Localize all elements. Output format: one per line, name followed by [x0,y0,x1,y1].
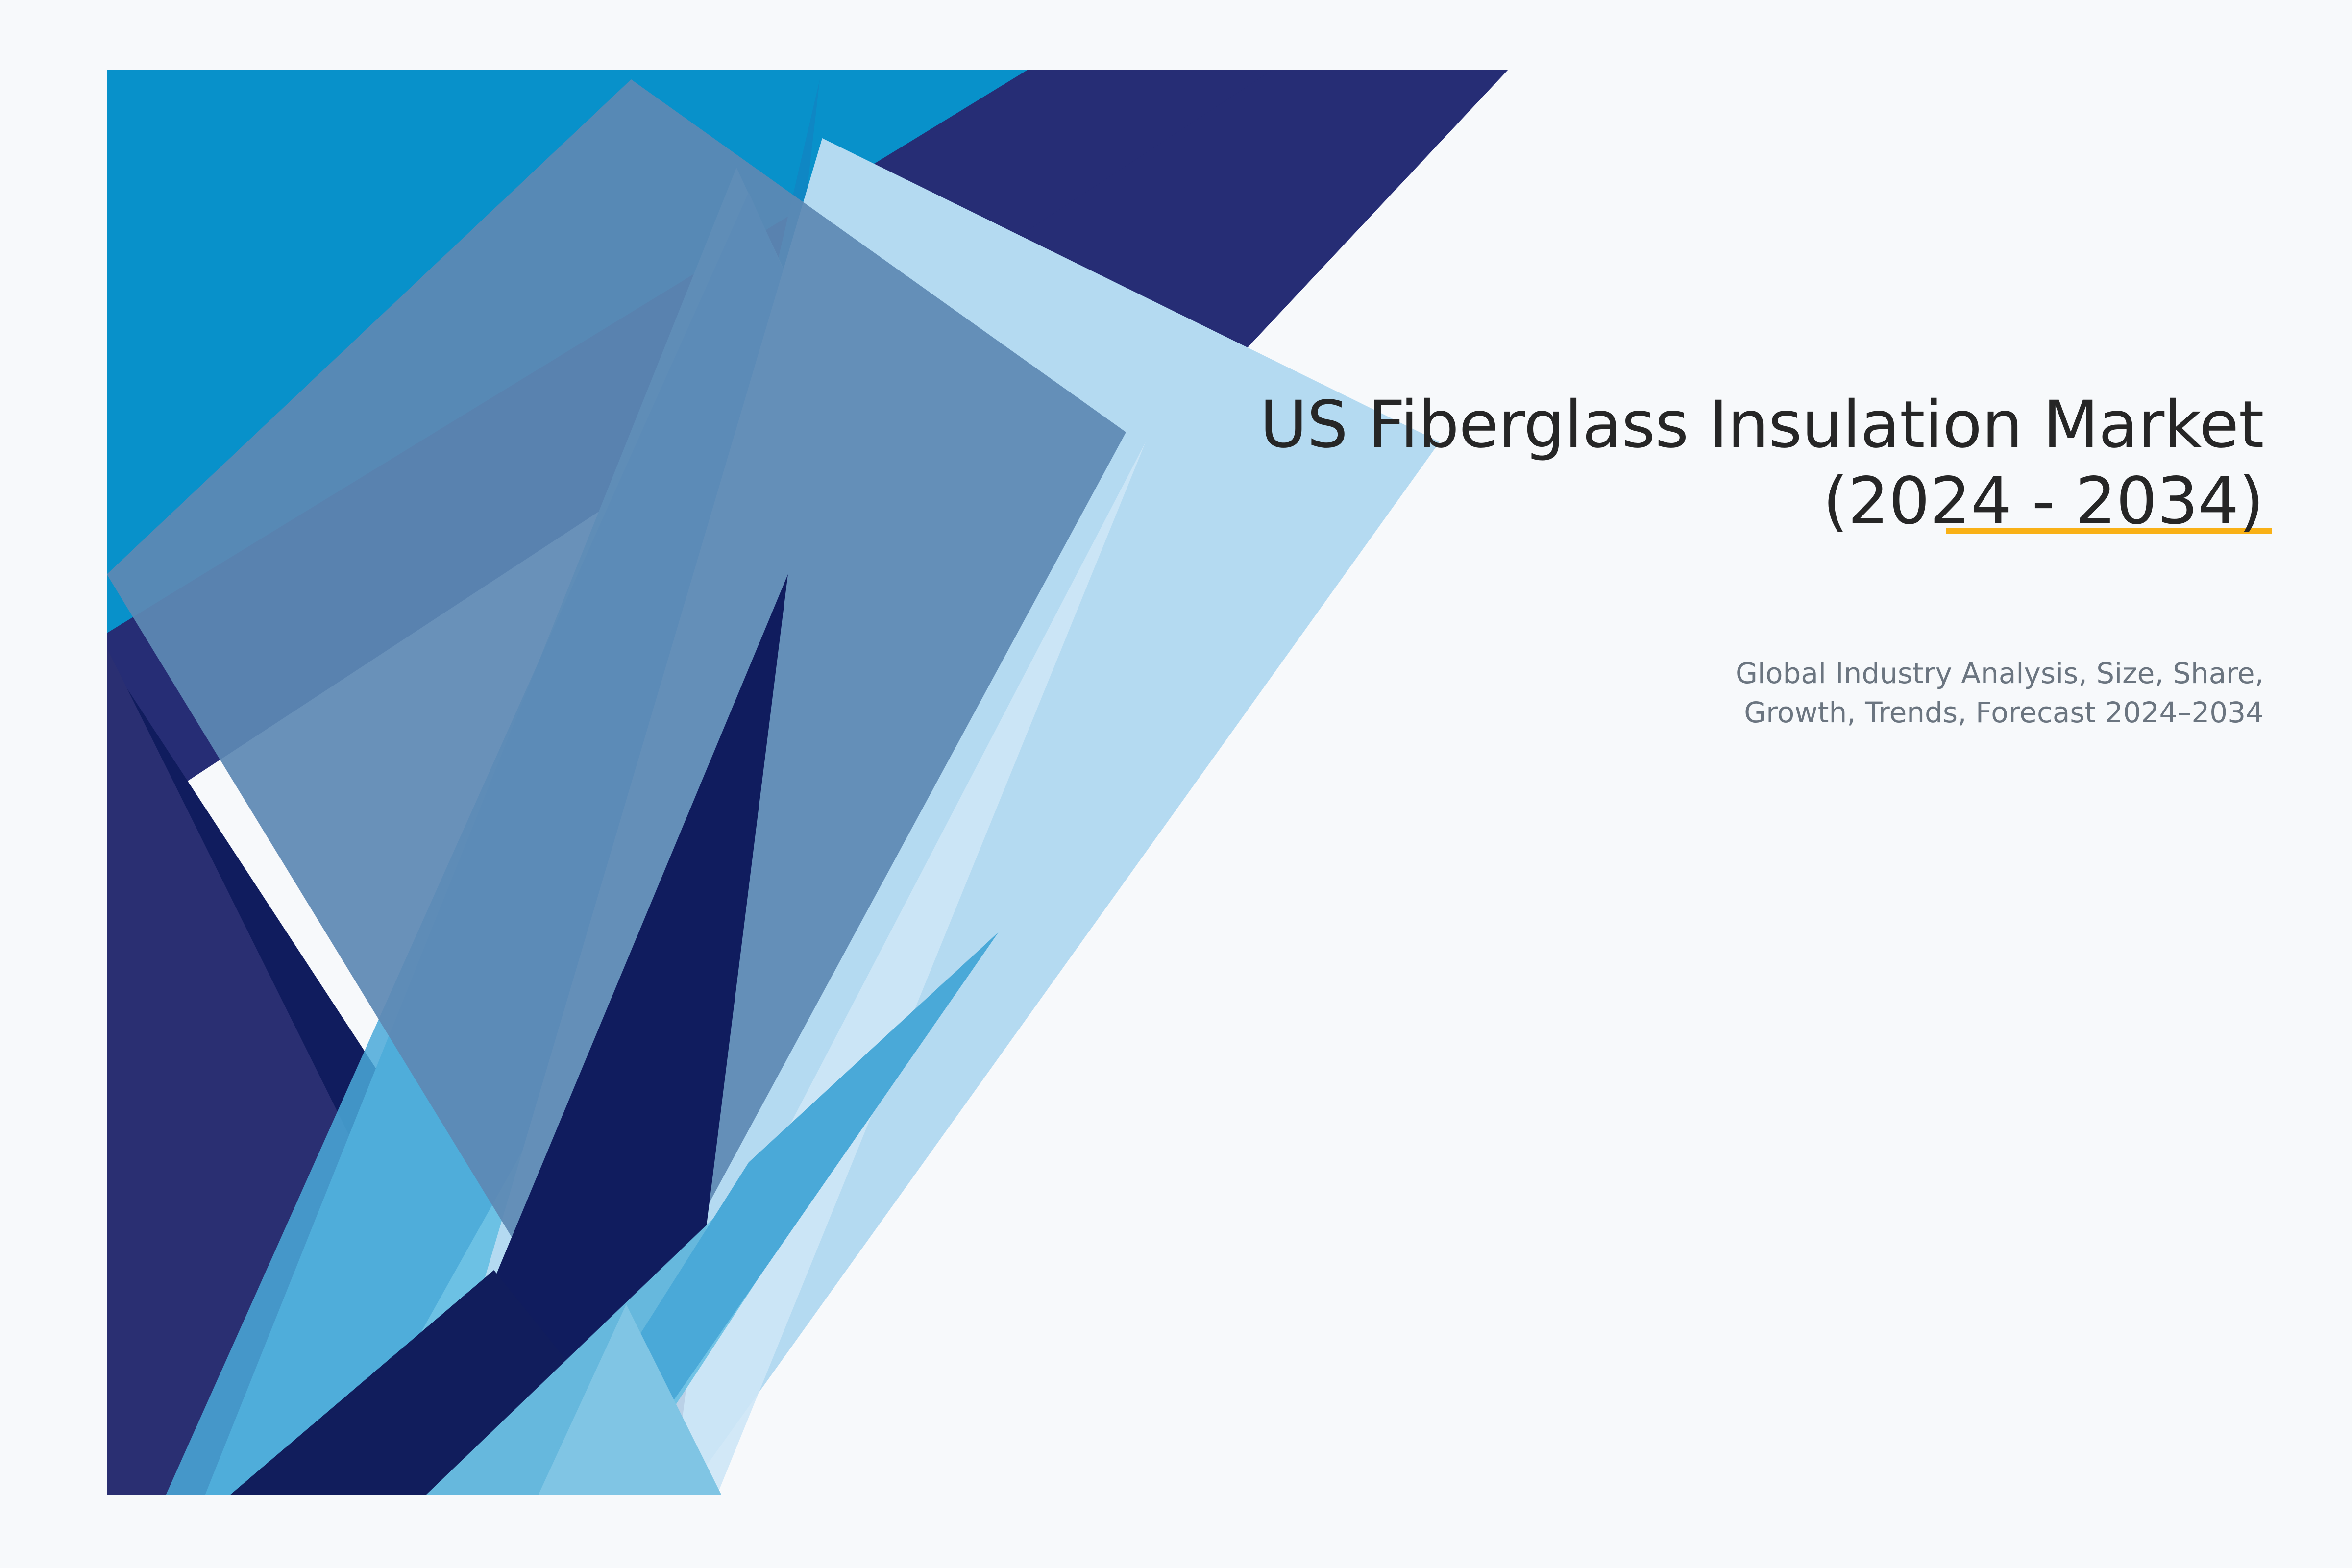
report-cover-page: US Fiberglass Insulation Market (2024 - … [0,0,2352,1568]
abstract-geometric-banner [107,70,1508,1495]
page-title: US Fiberglass Insulation Market (2024 - … [1068,387,2264,540]
page-title-line-1: US Fiberglass Insulation Market [1068,387,2264,464]
page-title-line-2: (2024 - 2034) [1068,464,2264,540]
geometric-shapes-svg [107,70,1508,1495]
page-subtitle: Global Industry Analysis, Size, Share, G… [1068,654,2264,732]
title-block: US Fiberglass Insulation Market (2024 - … [1068,387,2264,540]
page-subtitle-line-1: Global Industry Analysis, Size, Share, [1068,654,2264,693]
page-subtitle-line-2: Growth, Trends, Forecast 2024–2034 [1068,693,2264,732]
